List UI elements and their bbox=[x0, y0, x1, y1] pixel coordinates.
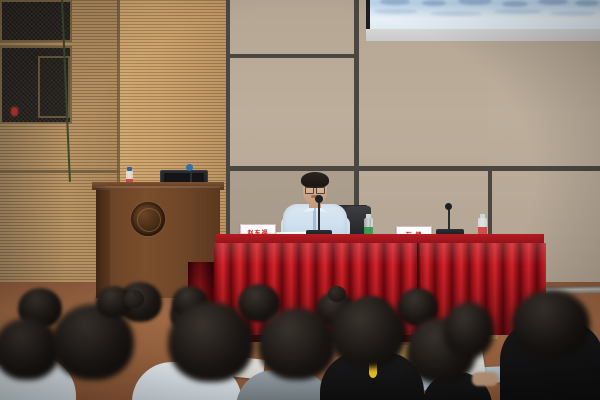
podium-microphone-head bbox=[186, 164, 193, 171]
audience-head-foreground bbox=[0, 318, 60, 380]
audience-head-foreground bbox=[444, 302, 494, 358]
wall-seam-horizontal bbox=[0, 170, 120, 173]
eyeglasses-icon bbox=[305, 186, 325, 192]
speaker-led-icon bbox=[12, 108, 17, 115]
audience-head-foreground bbox=[168, 302, 254, 382]
audience-hair-bun bbox=[328, 286, 346, 302]
photo-scene: 赵东福 万 健 bbox=[0, 0, 600, 400]
panel-face-b bbox=[359, 58, 488, 166]
lectern-emblem bbox=[131, 202, 165, 236]
desk-microphone-head bbox=[315, 195, 323, 203]
lectern-side-panel bbox=[96, 190, 110, 298]
panel-divider-3 bbox=[226, 54, 359, 58]
audience-head-foreground bbox=[512, 290, 590, 358]
audience-head-foreground bbox=[330, 298, 406, 368]
desk-microphone-stand bbox=[318, 198, 320, 232]
audience-hair-bun bbox=[124, 290, 144, 308]
desk-microphone-head-right bbox=[445, 203, 452, 210]
audience-head-foreground bbox=[258, 308, 336, 380]
projection-screen-blank-area bbox=[366, 29, 600, 41]
audience-hand bbox=[472, 372, 498, 386]
projection-screen bbox=[370, 0, 600, 29]
